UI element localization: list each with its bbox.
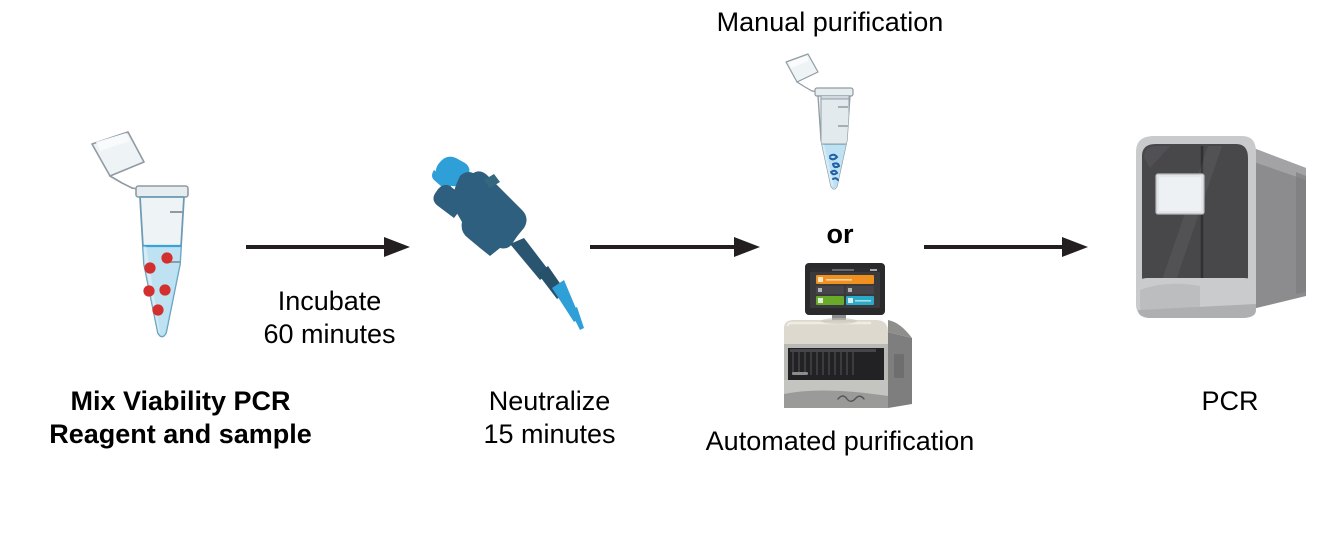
microcentrifuge-tube-with-red-cells-icon xyxy=(70,128,210,356)
workflow-diagram: Mix Viability PCR Reagent and sample Inc… xyxy=(0,0,1333,549)
step-caption-neutralize: Neutralize 15 minutes xyxy=(452,385,647,451)
arrow-label-incubate: Incubate 60 minutes xyxy=(232,285,427,351)
step-caption-pcr: PCR xyxy=(1160,385,1300,418)
section-title-manual-purification: Manual purification xyxy=(690,6,970,39)
pcr-thermal-cycler-icon xyxy=(1130,128,1320,338)
step-caption-mix: Mix Viability PCR Reagent and sample xyxy=(18,385,343,451)
spin-column-tube-icon xyxy=(778,52,868,194)
arrow-incubate xyxy=(244,234,414,260)
arrow-to-purification xyxy=(588,234,763,260)
automated-extraction-instrument-icon xyxy=(772,258,922,418)
or-connector-label: or xyxy=(795,218,885,251)
micropipette-icon xyxy=(424,152,594,332)
section-caption-automated-purification: Automated purification xyxy=(670,425,1010,458)
arrow-to-pcr xyxy=(922,234,1092,260)
